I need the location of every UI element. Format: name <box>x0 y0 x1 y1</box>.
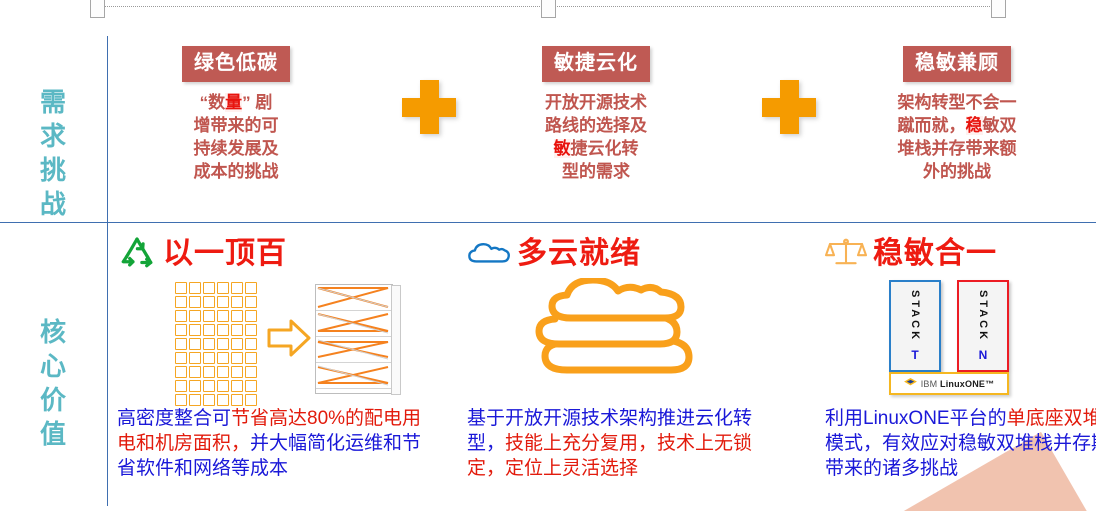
server-grid-icon <box>175 282 257 406</box>
server-cell <box>245 324 257 336</box>
text-run-highlight: 稳 <box>966 116 983 135</box>
text-run: 模式，有效应对稳敏双堆栈并存期带来的诸多挑战 <box>825 433 1096 479</box>
server-cell <box>175 324 187 336</box>
stack-box-label: STACK <box>909 290 921 342</box>
challenge-badge: 稳敏兼顾 <box>903 46 1011 82</box>
server-cell <box>231 352 243 364</box>
guide-handle-right[interactable] <box>991 0 1006 18</box>
value-description: 基于开放开源技术架构推进云化转型，技能上充分复用，技术上无锁定，定位上灵活选择 <box>467 406 787 481</box>
text-run: “数 <box>200 93 226 112</box>
rack-slot <box>316 363 392 389</box>
guide-handle-center[interactable] <box>541 0 556 18</box>
text-run: 持续发展及 <box>194 139 279 158</box>
rack-icon <box>315 284 393 394</box>
server-cell <box>189 352 201 364</box>
server-cell <box>203 324 215 336</box>
server-cell <box>245 380 257 392</box>
server-cell <box>203 338 215 350</box>
product-text: LinuxONE <box>940 379 985 389</box>
value-title: 稳敏合一 <box>873 239 997 269</box>
stack-box-label: STACK <box>977 290 989 342</box>
challenge-card-stable-agile[interactable]: 稳敏兼顾 架构转型不会一 蹴而就，稳敏双 堆栈并存带来额 外的挑战 <box>867 46 1047 183</box>
challenge-body: 架构转型不会一 蹴而就，稳敏双 堆栈并存带来额 外的挑战 <box>867 91 1047 183</box>
server-cell <box>217 296 229 308</box>
guide-handle-left[interactable] <box>90 0 105 18</box>
server-cell <box>189 282 201 294</box>
plus-icon-2 <box>762 80 816 134</box>
server-cell <box>217 366 229 378</box>
server-cell <box>231 394 243 406</box>
server-cell <box>203 352 215 364</box>
value-title: 多云就绪 <box>517 239 641 269</box>
text-run: 型的需求 <box>562 162 630 181</box>
rack-side-panel <box>391 285 401 395</box>
text-run: 外的挑战 <box>923 162 991 181</box>
challenge-badge: 敏捷云化 <box>542 46 650 82</box>
value-card-multicloud[interactable]: 多云就绪 基于开放开源技术架构推进云化转型，技能上充分复用，技术上无锁定，定位上… <box>467 232 787 481</box>
server-cell <box>245 352 257 364</box>
text-run: 高密度整合可 <box>117 408 231 429</box>
text-run-highlight: 技能上充分复用，技术上无锁定，定位上灵活选择 <box>467 433 752 479</box>
text-run-highlight: 敏 <box>554 139 571 158</box>
text-run: 堆栈并存带来额 <box>898 139 1017 158</box>
stack-box-n: STACK N <box>957 280 1009 372</box>
challenges-row: 绿色低碳 “数量” 剧 增带来的可 持续发展及 成本的挑战 敏捷云化 开放开源技… <box>107 36 1096 222</box>
server-cell <box>245 296 257 308</box>
slide-guide-bar[interactable] <box>88 0 1008 18</box>
server-cell <box>231 296 243 308</box>
server-cell <box>217 282 229 294</box>
server-cell <box>245 282 257 294</box>
dual-stack-art: STACK T STACK N IBM LinuxONE™ <box>825 278 1096 398</box>
horizontal-divider <box>0 222 1096 223</box>
server-cell <box>231 366 243 378</box>
server-cell <box>231 324 243 336</box>
server-cell <box>217 324 229 336</box>
challenge-body: “数量” 剧 增带来的可 持续发展及 成本的挑战 <box>162 91 310 183</box>
text-run-highlight: 单底座双堆栈 <box>1007 408 1096 429</box>
section-label-needs-challenges: 需 求 挑 战 <box>0 85 107 221</box>
server-consolidation-art <box>117 278 427 398</box>
rack-slot <box>316 285 392 311</box>
server-cell <box>175 296 187 308</box>
server-cell <box>189 296 201 308</box>
server-cell <box>189 380 201 392</box>
value-title: 以一顶百 <box>163 239 287 269</box>
recycle-icon <box>117 235 157 274</box>
cloud-stack-art <box>467 278 787 398</box>
stack-box-tag: T <box>911 348 918 362</box>
value-header: 稳敏合一 <box>825 232 1096 276</box>
server-cell <box>203 380 215 392</box>
server-cell <box>175 282 187 294</box>
value-description: 利用LinuxONE平台的单底座双堆栈模式，有效应对稳敏双堆栈并存期带来的诸多挑… <box>825 406 1096 481</box>
text-run: 开放开源技术 <box>545 93 647 112</box>
text-run: 利用LinuxONE平台的 <box>825 408 1007 429</box>
plus-icon-1 <box>402 80 456 134</box>
dual-stack-icon: STACK T STACK N IBM LinuxONE™ <box>875 280 1035 398</box>
server-cell <box>189 324 201 336</box>
server-cell <box>175 366 187 378</box>
stack-box-t: STACK T <box>889 280 941 372</box>
server-cell <box>231 310 243 322</box>
text-run-highlight: 量 <box>225 93 242 112</box>
server-cell <box>217 352 229 364</box>
text-run: 路线的选择及 <box>545 116 647 135</box>
stack-box-tag: N <box>979 348 988 362</box>
challenge-card-green[interactable]: 绿色低碳 “数量” 剧 增带来的可 持续发展及 成本的挑战 <box>162 46 310 183</box>
text-run: 敏双 <box>983 116 1017 135</box>
rack-slot <box>316 337 392 363</box>
text-run: 成本的挑战 <box>194 162 279 181</box>
text-run: 蹴而就， <box>898 116 966 135</box>
server-cell <box>203 296 215 308</box>
challenge-badge: 绿色低碳 <box>182 46 290 82</box>
server-cell <box>217 338 229 350</box>
server-cell <box>189 310 201 322</box>
server-cell <box>231 338 243 350</box>
section-label-core-value: 核 心 价 值 <box>0 315 107 451</box>
challenge-body: 开放开源技术 路线的选择及 敏捷云化转 型的需求 <box>517 91 675 183</box>
value-card-dual-stack[interactable]: 稳敏合一 STACK T STACK N <box>825 232 1096 481</box>
brand-text: IBM <box>921 379 938 389</box>
server-cell <box>217 380 229 392</box>
tm-mark: ™ <box>985 379 994 389</box>
balance-scale-icon <box>825 236 867 273</box>
server-cell <box>245 366 257 378</box>
server-cell <box>231 282 243 294</box>
server-cell <box>175 338 187 350</box>
arrow-right-icon <box>267 316 311 360</box>
value-description: 高密度整合可节省高达80%的配电用电和机房面积，并大幅简化运维和节省软件和网络等… <box>117 406 427 481</box>
text-run: ” 剧 <box>242 93 272 112</box>
value-header: 以一顶百 <box>117 232 427 276</box>
server-cell <box>217 394 229 406</box>
server-cell <box>203 310 215 322</box>
server-cell <box>175 380 187 392</box>
text-run: 捷云化转 <box>571 139 639 158</box>
server-cell <box>189 394 201 406</box>
server-cell <box>217 310 229 322</box>
server-cell <box>175 352 187 364</box>
server-cell <box>245 338 257 350</box>
text-run: 架构转型不会一 <box>898 93 1017 112</box>
server-cell <box>245 310 257 322</box>
server-cell <box>175 310 187 322</box>
values-row: 以一顶百 <box>107 224 1096 511</box>
text-run: 增带来的可 <box>194 116 279 135</box>
server-cell <box>203 282 215 294</box>
server-cell <box>245 394 257 406</box>
value-card-consolidation[interactable]: 以一顶百 <box>117 232 427 481</box>
server-cell <box>189 366 201 378</box>
linuxone-badge: IBM LinuxONE™ <box>889 372 1009 395</box>
slide-canvas: 需 求 挑 战 核 心 价 值 绿色低碳 “数量” 剧 增带来的可 持续发展及 … <box>0 0 1096 511</box>
server-cell <box>203 366 215 378</box>
challenge-card-agile[interactable]: 敏捷云化 开放开源技术 路线的选择及 敏捷云化转 型的需求 <box>517 46 675 183</box>
server-cell <box>175 394 187 406</box>
value-header: 多云就绪 <box>467 232 787 276</box>
cloud-stack-icon <box>529 278 719 398</box>
rack-slot <box>316 311 392 337</box>
server-cell <box>231 380 243 392</box>
linuxone-logo-icon <box>904 378 917 389</box>
linuxone-badge-text: IBM LinuxONE™ <box>921 379 995 389</box>
cloud-icon <box>467 237 511 272</box>
server-cell <box>189 338 201 350</box>
server-cell <box>203 394 215 406</box>
